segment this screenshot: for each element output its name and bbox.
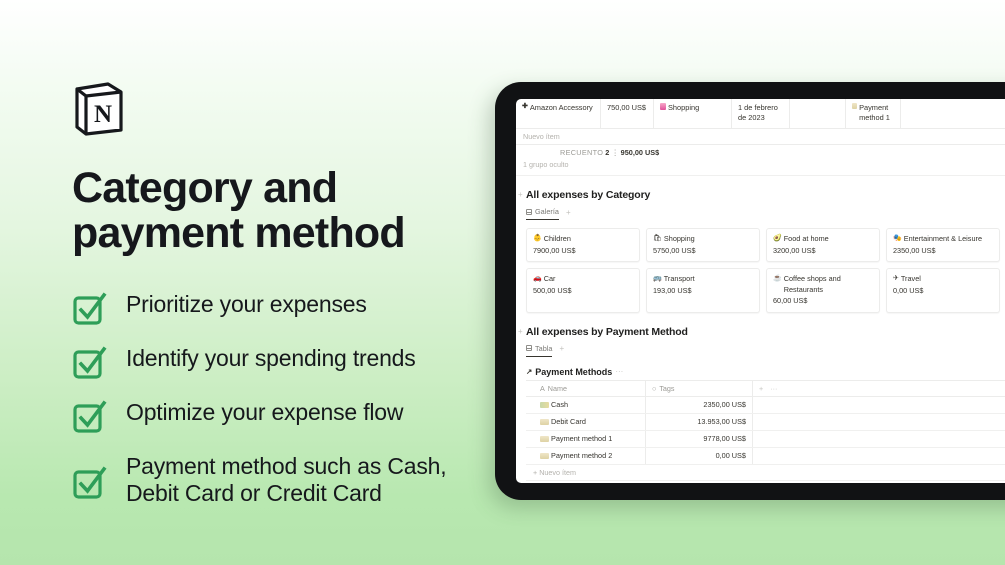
card-label: Food at home — [784, 234, 829, 245]
row-count-summary: RECUENTO 2 ⋮ 950,00 US$ — [516, 145, 1005, 159]
bus-icon: 🚌 — [653, 274, 662, 285]
tab-galeria-label: Galería — [535, 207, 559, 216]
payment-methods-database: ↗ Payment Methods ··· A Name ○ Tags — [526, 367, 1005, 483]
cell-name-text: Cash — [551, 400, 568, 409]
checkbox-check-icon — [72, 292, 106, 326]
column-header-name[interactable]: A Name — [526, 381, 646, 396]
view-tab-bar-category: Galería + — [526, 207, 1005, 220]
table-grid-icon — [526, 345, 532, 351]
payment-methods-table: A Name ○ Tags + ··· — [526, 380, 1005, 483]
card-value: 500,00 US$ — [533, 286, 633, 297]
cell-name-text: Amazon Accessory — [530, 103, 593, 113]
gallery-grid-icon — [526, 209, 532, 215]
gallery-card[interactable]: ✈ Travel 0,00 US$ — [886, 268, 1000, 313]
notion-app-screen: ✚ Amazon Accessory 750,00 US$ Shopping 1… — [516, 99, 1005, 483]
new-item-label: Nuevo ítem — [539, 468, 576, 477]
cell-spacer — [753, 431, 1005, 447]
database-title-text: Payment Methods — [535, 367, 612, 377]
cell-name-text: Debit Card — [551, 417, 586, 426]
open-link-icon: ↗ — [526, 367, 532, 376]
cell-value[interactable]: 0,00 US$ — [646, 448, 753, 464]
count-label: RECUENTO — [560, 148, 603, 157]
category-section: All expenses by Category Galería + 👶 Chi… — [516, 176, 1005, 313]
cell-spacer — [753, 397, 1005, 413]
card-label: Shopping — [664, 234, 695, 245]
shopping-bag-icon: 🛍 — [653, 234, 662, 245]
card-value: 193,00 US$ — [653, 286, 753, 297]
cell-name-text: Payment method 2 — [551, 451, 612, 460]
cell-name-text: Payment method 1 — [551, 434, 612, 443]
cell-value[interactable]: 2350,00 US$ — [646, 397, 753, 413]
card-title: 👶 Children — [533, 234, 633, 245]
card-value: 2350,00 US$ — [893, 246, 993, 257]
cell-name[interactable]: ✚ Amazon Accessory — [516, 99, 601, 128]
checkbox-check-icon — [72, 346, 106, 380]
cell-blank-1[interactable] — [790, 99, 846, 128]
table-row[interactable]: Payment method 1 9778,00 US$ — [526, 431, 1005, 448]
section-title-payment: All expenses by Payment Method — [526, 326, 1005, 338]
tab-tabla[interactable]: Tabla — [526, 344, 552, 357]
cell-value[interactable]: 13.953,00 US$ — [646, 414, 753, 430]
count-separator: ⋮ — [611, 148, 618, 157]
gallery-card[interactable]: 👶 Children 7900,00 US$ — [526, 228, 640, 262]
count-value: 2 — [605, 148, 609, 157]
cell-name[interactable]: Payment method 2 — [526, 448, 646, 464]
cell-payment-method-text: Payment method 1 — [859, 103, 894, 123]
card-title: 🥑 Food at home — [773, 234, 873, 245]
new-item-button[interactable]: + Nuevo ítem — [526, 465, 1005, 481]
airplane-icon: ✈ — [893, 274, 899, 285]
list-item-label: Prioritize your expenses — [126, 290, 367, 318]
cell-spacer — [753, 448, 1005, 464]
tab-tabla-label: Tabla — [535, 344, 552, 353]
checkbox-check-icon — [72, 400, 106, 434]
add-view-button[interactable]: + — [566, 208, 571, 220]
cell-name[interactable]: Cash — [526, 397, 646, 413]
list-item: Payment method such as Cash, Debit Card … — [72, 452, 492, 507]
category-gallery: 👶 Children 7900,00 US$ 🛍 Shopping 5750,0… — [526, 228, 1005, 313]
card-label: Travel — [901, 274, 921, 285]
notion-logo: N — [72, 80, 126, 138]
table-row[interactable]: ✚ Amazon Accessory 750,00 US$ Shopping 1… — [516, 99, 1005, 129]
column-header-actions: + ··· — [753, 381, 1005, 396]
section-title-category: All expenses by Category — [526, 189, 1005, 201]
card-title: 🛍 Shopping — [653, 234, 753, 245]
cell-payment-method[interactable]: Payment method 1 — [846, 99, 901, 128]
checkbox-check-icon — [72, 466, 106, 500]
card-icon — [852, 103, 857, 109]
card-value: 0,00 US$ — [893, 286, 993, 297]
search-icon: ○ — [652, 384, 656, 393]
card-label: Entertainment & Leisure — [904, 234, 982, 245]
card-title: 🚗 Car — [533, 274, 633, 285]
card-title: ✈ Travel — [893, 274, 993, 285]
cell-value[interactable]: 9778,00 US$ — [646, 431, 753, 447]
list-item-label: Payment method such as Cash, Debit Card … — [126, 452, 446, 507]
marketing-panel: N Category and payment method Prioritize… — [72, 80, 492, 508]
list-item: Identify your spending trends — [72, 344, 492, 380]
gallery-card[interactable]: 🎭 Entertainment & Leisure 2350,00 US$ — [886, 228, 1000, 262]
add-column-button[interactable]: + — [759, 384, 763, 393]
tab-galeria[interactable]: Galería — [526, 207, 559, 220]
new-item-button[interactable]: Nuevo ítem — [516, 129, 1005, 145]
money-icon — [540, 402, 549, 408]
view-tab-bar-payment: Tabla + — [526, 344, 1005, 357]
list-item: Prioritize your expenses — [72, 290, 492, 326]
card-label: Children — [544, 234, 571, 245]
gallery-card[interactable]: 🛍 Shopping 5750,00 US$ — [646, 228, 760, 262]
shopping-bag-icon — [660, 103, 666, 110]
cell-category-text: Shopping — [668, 103, 699, 113]
svg-text:N: N — [94, 101, 112, 128]
text-type-icon: A — [540, 384, 545, 393]
card-label: Car — [544, 274, 556, 285]
card-value: 7900,00 US$ — [533, 246, 633, 257]
database-menu-icon[interactable]: ··· — [615, 367, 623, 376]
card-title: ☕ Coffee shops and Restaurants — [773, 274, 873, 295]
coffee-icon: ☕ — [773, 274, 782, 295]
column-header-name-label: Name — [548, 384, 567, 393]
count-sum: 950,00 US$ — [621, 148, 660, 157]
cell-name[interactable]: Debit Card — [526, 414, 646, 430]
gallery-card[interactable]: 🚌 Transport 193,00 US$ — [646, 268, 760, 313]
hidden-group-note: 1 grupo oculto — [516, 159, 1005, 176]
card-value: 3200,00 US$ — [773, 246, 873, 257]
column-header-tags[interactable]: ○ Tags — [646, 381, 753, 396]
card-icon — [540, 419, 549, 425]
table-row[interactable]: Cash 2350,00 US$ — [526, 397, 1005, 414]
card-value: 5750,00 US$ — [653, 246, 753, 257]
tablet-device-frame: ✚ Amazon Accessory 750,00 US$ Shopping 1… — [495, 82, 1005, 500]
table-footer-calculation[interactable]: Calcular ⌄ SUMA 26.081,00 US$ — [526, 481, 753, 483]
avocado-icon: 🥑 — [773, 234, 782, 245]
card-icon — [540, 453, 549, 459]
car-icon: 🚗 — [533, 274, 542, 285]
cell-blank-2[interactable] — [901, 99, 1005, 128]
card-value: 60,00 US$ — [773, 296, 873, 307]
list-item-label: Optimize your expense flow — [126, 398, 403, 426]
gallery-card[interactable]: 🚗 Car 500,00 US$ — [526, 268, 640, 313]
cell-name[interactable]: Payment method 1 — [526, 431, 646, 447]
add-view-button[interactable]: + — [559, 344, 564, 356]
expand-icon: ✚ — [522, 103, 528, 110]
card-label: Coffee shops and Restaurants — [784, 274, 873, 295]
cell-category[interactable]: Shopping — [654, 99, 732, 128]
gallery-card[interactable]: ☕ Coffee shops and Restaurants 60,00 US$ — [766, 268, 880, 313]
page-title: Category and payment method — [72, 166, 492, 256]
card-title: 🚌 Transport — [653, 274, 753, 285]
cell-date[interactable]: 1 de febrero de 2023 — [732, 99, 790, 128]
payment-method-section: All expenses by Payment Method Tabla + ↗… — [516, 313, 1005, 483]
list-item: Optimize your expense flow — [72, 398, 492, 434]
card-label: Transport — [664, 274, 695, 285]
baby-icon: 👶 — [533, 234, 542, 245]
table-header-row: A Name ○ Tags + ··· — [526, 381, 1005, 397]
table-row[interactable]: Debit Card 13.953,00 US$ — [526, 414, 1005, 431]
card-icon — [540, 436, 549, 442]
gallery-card[interactable]: 🥑 Food at home 3200,00 US$ — [766, 228, 880, 262]
database-title[interactable]: ↗ Payment Methods ··· — [526, 367, 1005, 377]
table-row[interactable]: Payment method 2 0,00 US$ — [526, 448, 1005, 465]
cell-amount[interactable]: 750,00 US$ — [601, 99, 654, 128]
column-header-tags-label: Tags — [659, 384, 674, 393]
more-options-icon[interactable]: ··· — [770, 384, 777, 393]
list-item-label: Identify your spending trends — [126, 344, 416, 372]
theater-masks-icon: 🎭 — [893, 234, 902, 245]
cell-spacer — [753, 414, 1005, 430]
feature-list: Prioritize your expenses Identify your s… — [72, 290, 492, 507]
card-title: 🎭 Entertainment & Leisure — [893, 234, 993, 245]
